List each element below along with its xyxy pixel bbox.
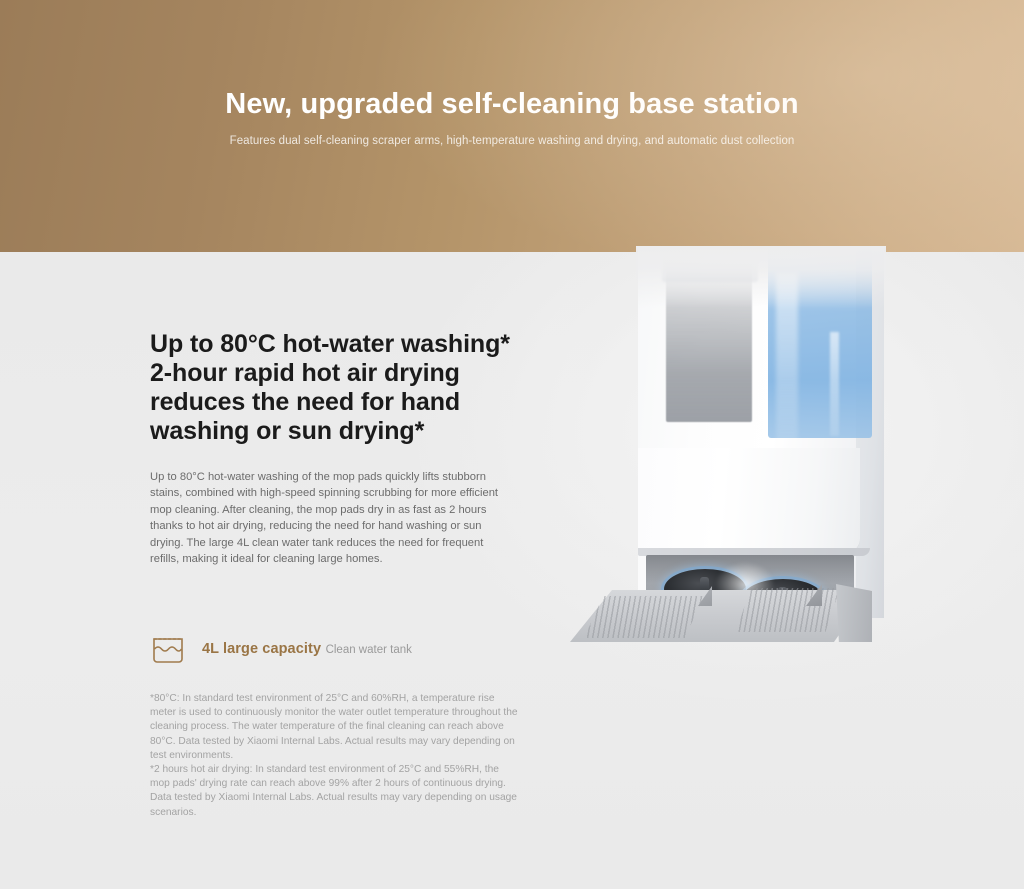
hero-subtitle: Features dual self-cleaning scraper arms… (0, 135, 1024, 147)
station-mid-panel (638, 448, 860, 554)
ramp-side-edge (836, 584, 872, 642)
product-feature-page: New, upgraded self-cleaning base station… (0, 0, 1024, 889)
main-content: Up to 80°C hot-water washing* 2-hour rap… (0, 252, 1024, 889)
feature-heading: Up to 80°C hot-water washing* 2-hour rap… (150, 330, 510, 446)
footnotes: *80°C: In standard test environment of 2… (150, 692, 518, 820)
feature-body-text: Up to 80°C hot-water washing of the mop … (150, 469, 502, 567)
footnote-drying: *2 hours hot air drying: In standard tes… (150, 763, 518, 820)
capacity-badge-title: 4L large capacity (202, 641, 321, 657)
feature-heading-line-3: reduces the need for hand (150, 388, 510, 417)
capacity-badge-text: 4L large capacity Clean water tank (202, 640, 412, 658)
feature-heading-line-2: 2-hour rapid hot air drying (150, 359, 510, 388)
water-tank-icon (150, 632, 186, 666)
hero-banner: New, upgraded self-cleaning base station… (0, 0, 1024, 252)
capacity-badge-subtitle: Clean water tank (326, 644, 412, 656)
ramp-ribs-left (584, 596, 704, 638)
footnote-temperature: *80°C: In standard test environment of 2… (150, 692, 518, 763)
feature-heading-line-1: Up to 80°C hot-water washing* (150, 330, 510, 359)
hero-title: New, upgraded self-cleaning base station (0, 88, 1024, 121)
ramp-ribs-right (736, 588, 840, 632)
feature-copy-block: Up to 80°C hot-water washing* 2-hour rap… (150, 330, 510, 567)
feature-heading-line-4: washing or sun drying* (150, 417, 510, 446)
tank-top-fade (636, 246, 886, 308)
base-station-image (540, 252, 960, 652)
capacity-badge: 4L large capacity Clean water tank (150, 632, 412, 666)
